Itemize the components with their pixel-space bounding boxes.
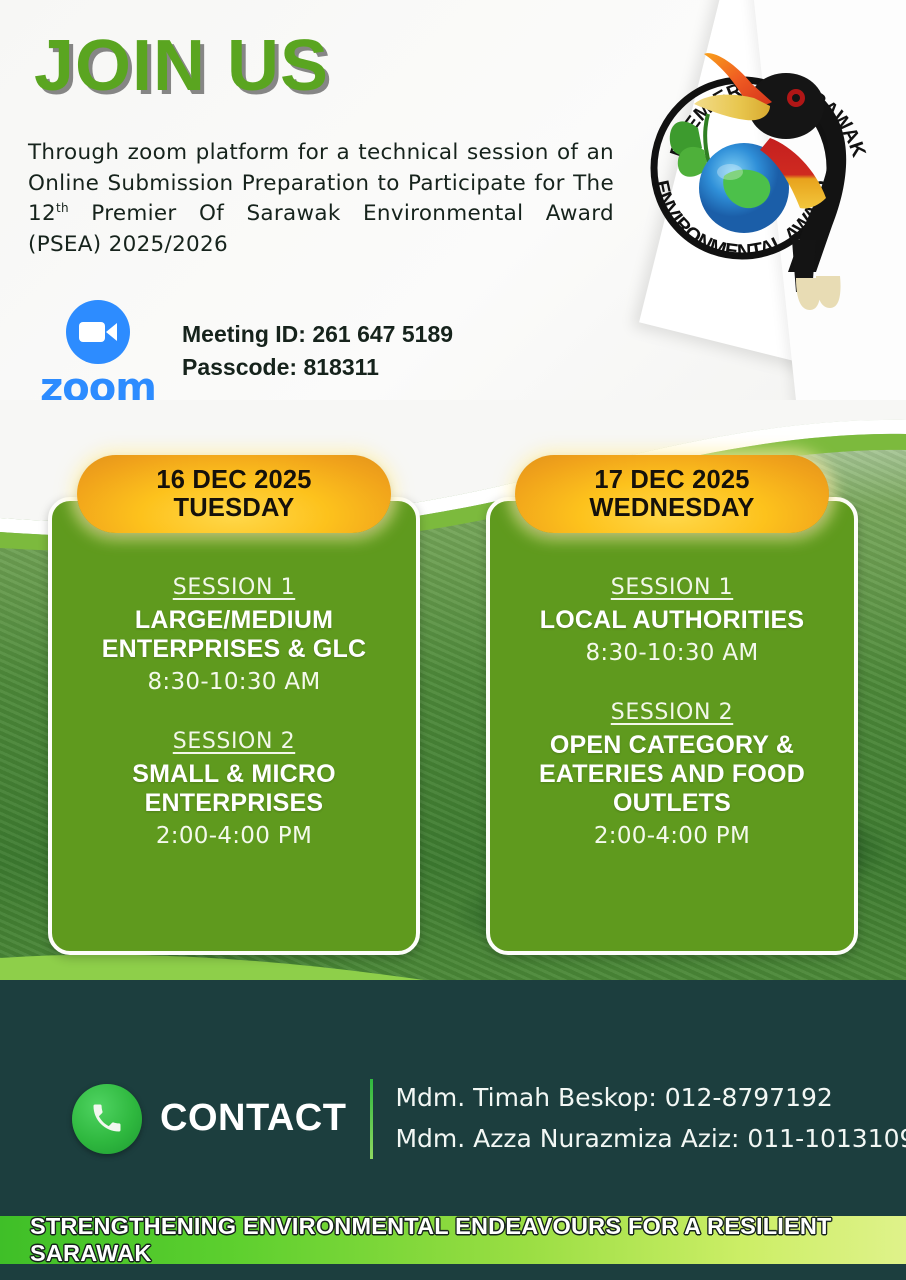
tagline-text: STRENGTHENING ENVIRONMENTAL ENDEAVOURS F… bbox=[30, 1213, 906, 1267]
session-block: SESSION 1 LARGE/MEDIUM ENTERPRISES & GLC… bbox=[66, 575, 402, 695]
session-title: LOCAL AUTHORITIES bbox=[504, 606, 840, 635]
day-card-1: 16 DEC 2025 TUESDAY SESSION 1 LARGE/MEDI… bbox=[48, 497, 420, 955]
poster-root: JOIN US Through zoom platform for a tech… bbox=[0, 0, 906, 1280]
session-title: OPEN CATEGORY & EATERIES AND FOOD OUTLET… bbox=[504, 731, 840, 818]
date-badge-1: 16 DEC 2025 TUESDAY bbox=[77, 455, 391, 533]
phone-icon bbox=[72, 1084, 142, 1154]
session-time: 2:00-4:00 PM bbox=[504, 823, 840, 849]
contact-heading: CONTACT bbox=[160, 1097, 346, 1140]
session-time: 2:00-4:00 PM bbox=[66, 823, 402, 849]
session-block: SESSION 2 OPEN CATEGORY & EATERIES AND F… bbox=[504, 700, 840, 849]
badge-weekday: WEDNESDAY bbox=[589, 494, 754, 522]
badge-date: 16 DEC 2025 bbox=[156, 466, 311, 494]
session-title: LARGE/MEDIUM ENTERPRISES & GLC bbox=[66, 606, 402, 664]
page-title: JOIN US bbox=[34, 30, 329, 102]
schedule-section: 16 DEC 2025 TUESDAY SESSION 1 LARGE/MEDI… bbox=[0, 400, 906, 1060]
contact-row: CONTACT Mdm. Timah Beskop: 012-8797192 M… bbox=[72, 1078, 906, 1159]
subtitle-ordinal-suffix: th bbox=[56, 201, 69, 215]
subtitle-suffix: Premier Of Sarawak Environmental Award (… bbox=[28, 201, 614, 257]
session-label: SESSION 2 bbox=[504, 700, 840, 725]
zoom-logo: zoom bbox=[40, 300, 156, 408]
contact-person-1: Mdm. Timah Beskop: 012-8797192 bbox=[395, 1078, 906, 1119]
badge-weekday: TUESDAY bbox=[174, 494, 295, 522]
contact-person-2: Mdm. Azza Nurazmiza Aziz: 011-10131095 bbox=[395, 1119, 906, 1160]
contact-persons: Mdm. Timah Beskop: 012-8797192 Mdm. Azza… bbox=[395, 1078, 906, 1159]
session-label: SESSION 2 bbox=[66, 729, 402, 754]
tagline-banner: STRENGTHENING ENVIRONMENTAL ENDEAVOURS F… bbox=[0, 1216, 906, 1264]
session-block: SESSION 2 SMALL & MICRO ENTERPRISES 2:00… bbox=[66, 729, 402, 849]
badge-date: 17 DEC 2025 bbox=[594, 466, 749, 494]
meeting-id-text: Meeting ID: 261 647 5189 bbox=[182, 318, 453, 351]
session-label: SESSION 1 bbox=[66, 575, 402, 600]
passcode-text: Passcode: 818311 bbox=[182, 351, 453, 384]
date-badge-2: 17 DEC 2025 WEDNESDAY bbox=[515, 455, 829, 533]
session-label: SESSION 1 bbox=[504, 575, 840, 600]
session-title: SMALL & MICRO ENTERPRISES bbox=[66, 760, 402, 818]
session-time: 8:30-10:30 AM bbox=[66, 669, 402, 695]
psea-award-logo: PREMIER OF SARAWAK ENVIRONMENTAL AWARD bbox=[620, 10, 890, 310]
subtitle-text: Through zoom platform for a technical se… bbox=[28, 138, 614, 260]
video-camera-icon bbox=[66, 300, 130, 364]
day-card-2: 17 DEC 2025 WEDNESDAY SESSION 1 LOCAL AU… bbox=[486, 497, 858, 955]
session-time: 8:30-10:30 AM bbox=[504, 640, 840, 666]
meeting-details: Meeting ID: 261 647 5189 Passcode: 81831… bbox=[182, 318, 453, 385]
session-block: SESSION 1 LOCAL AUTHORITIES 8:30-10:30 A… bbox=[504, 575, 840, 666]
contact-divider bbox=[370, 1079, 373, 1159]
